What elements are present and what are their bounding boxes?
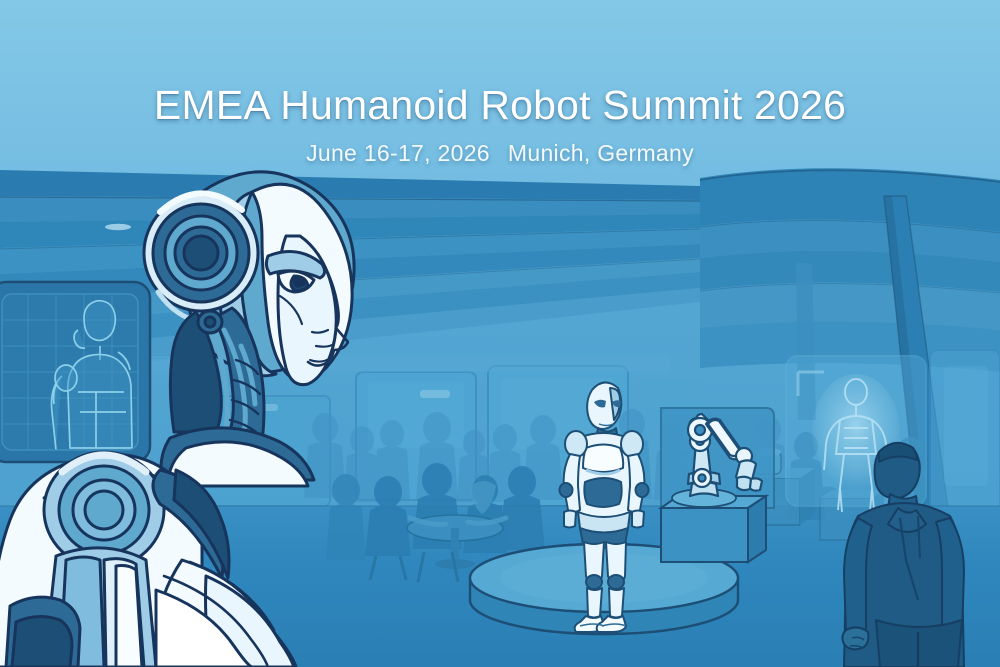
conference-poster: EMEA Humanoid Robot Summit 2026 June 16-… [0,0,1000,667]
foreground-robot-bust [0,0,1000,667]
